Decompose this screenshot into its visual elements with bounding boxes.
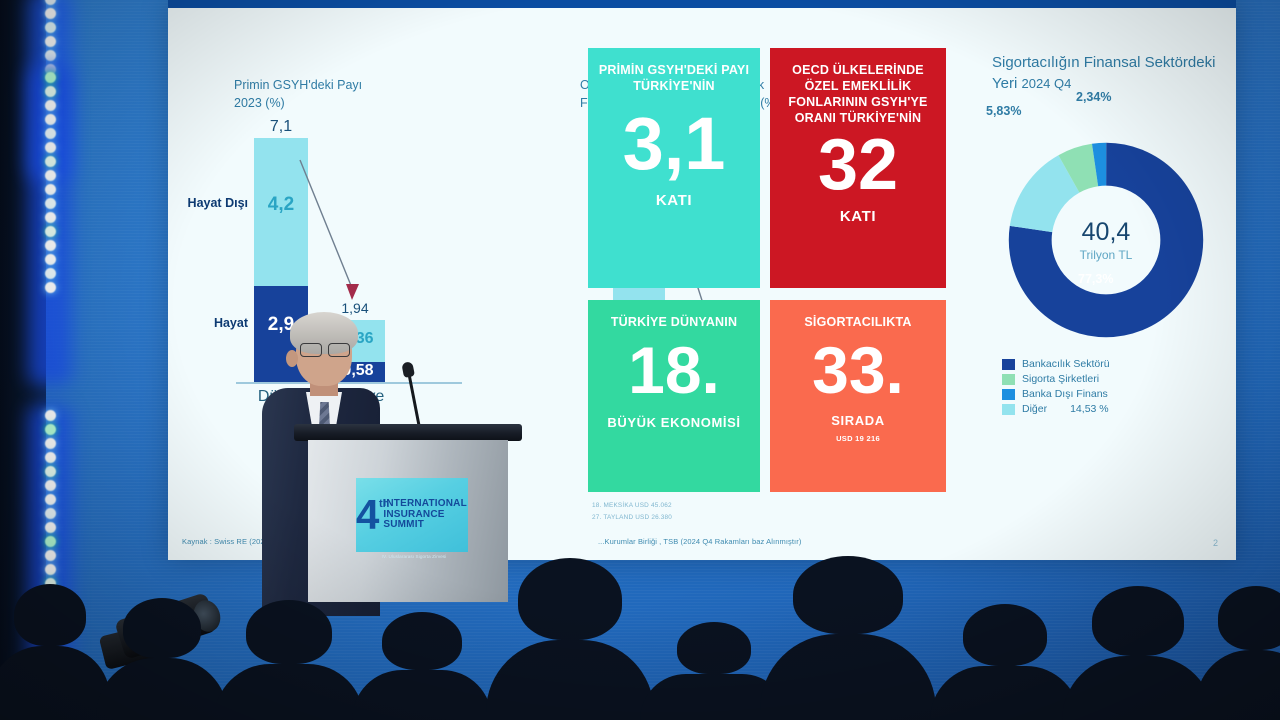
donut-center-unit: Trilyon TL [1080,248,1133,262]
legend-item-sigorta: Sigorta Şirketleri [1002,373,1110,385]
tile-sub-3: BÜYÜK EKONOMİSİ [607,415,740,430]
summit-logo-text: INTERNATIONAL INSURANCE SUMMIT [383,499,468,531]
chart-title-1: Primin GSYH'deki Payı 2023 (%) [234,76,384,112]
stat-tile-economy-rank: TÜRKİYE DÜNYANIN 18. BÜYÜK EKONOMİSİ [588,300,760,492]
audience-head [96,658,228,720]
led-strip-middle [40,72,60,293]
donut-pct-bankacilik: 77,3% [1078,272,1113,286]
summit-logo-line2: INSURANCE SUMMIT [383,510,468,531]
legend-swatch-bankacilik [1002,359,1015,370]
stat-tiles-group: PRİMİN GSYH'DEKİ PAYI TÜRKİYE'NİN 3,1 KA… [588,48,946,493]
stat-tile-premium-multiple: PRİMİN GSYH'DEKİ PAYI TÜRKİYE'NİN 3,1 KA… [588,48,760,288]
speaker-glasses-icon [300,343,350,356]
donut-ring: 40,4 Trilyon TL 77,3% [1006,140,1206,340]
audience-head [214,664,364,720]
donut-pct-sigorta: 5,83% [986,104,1021,118]
chart1-total-label-dunya: 7,1 [246,118,316,136]
footnote-2: 27. TAYLAND USD 26.380 [592,512,672,524]
tile-note-4: USD 19 216 [836,434,880,443]
tile-value-4: 33. [812,340,904,401]
tile-footnotes: 18. MEKSİKA USD 45.062 27. TAYLAND USD 2… [592,500,672,524]
legend-label-bankacilik: Bankacılık Sektörü [1022,358,1110,370]
tile-caption-4: SİGORTACILIKTA [804,314,911,330]
audience-head [1062,656,1214,720]
tile-value-1: 3,1 [623,110,726,178]
audience-head [352,670,492,720]
legend-item-bankacilik: Bankacılık Sektörü [1002,358,1110,370]
stat-tile-pension-multiple: OECD ÜLKELERİNDE ÖZEL EMEKLİLİK FONLARIN… [770,48,946,288]
summit-logo-tagline: IV. Uluslararası Sigorta Zirvesi [360,554,468,559]
summit-logo-ordinal: 4th [356,498,379,532]
chart-financial-sector-donut: Sigortacılığın Finansal Sektördeki Yeri … [968,40,1236,500]
legend-label-diger: Diğer [1022,403,1047,415]
audience-head [930,666,1080,720]
tile-caption-3: TÜRKİYE DÜNYANIN [611,314,737,330]
donut-title-year: 2024 Q4 [1021,76,1071,91]
donut-center-value: 40,4 [1082,218,1131,247]
footnote-1: 18. MEKSİKA USD 45.062 [592,500,672,512]
audience-silhouettes [0,570,1280,720]
audience-head [0,646,110,720]
stat-tile-insurance-rank: SİGORTACILIKTA 33. SIRADA USD 19 216 [770,300,946,492]
chart1-decline-arrow-icon [296,156,376,306]
source-note-right: ...Kurumlar Birliği , TSB (2024 Q4 Rakam… [598,537,801,546]
legend-swatch-bankadisi [1002,389,1015,400]
legend-item-diger: Diğer 14,53 % [1002,403,1110,415]
conference-stage: Sigorta Birliği Primin GSYH'deki Payı 20… [0,0,1280,720]
tile-sub-2: KATI [840,208,876,225]
led-strip-upper [40,0,60,75]
tile-sub-1: KATI [656,192,692,209]
legend-value-diger: 14,53 % [1070,403,1109,415]
podium-top-surface [294,424,522,441]
tile-caption-2: OECD ÜLKELERİNDE ÖZEL EMEKLİLİK FONLARIN… [780,62,936,126]
slide-page-number: 2 [1213,538,1218,548]
summit-ordinal-number: 4 [356,491,379,538]
legend-swatch-sigorta [1002,374,1015,385]
audience-head [1196,650,1280,720]
donut-pct-bankadisi: 2,34% [1076,90,1111,104]
legend-label-bankadisi: Banka Dışı Finans [1022,388,1108,400]
legend-swatch-diger [1002,404,1015,415]
source-note-left: Kaynak : Swiss RE (2024) [182,537,272,546]
audience-head [760,634,936,720]
chart1-row-label-nonlife: Hayat Dışı [168,196,248,210]
chart1-row-label-life: Hayat [168,316,248,330]
donut-title: Sigortacılığın Finansal Sektördeki Yeri … [992,52,1236,95]
speaker-ear [286,350,298,367]
legend-item-bankadisi: Banka Dışı Finans [1002,388,1110,400]
tile-value-3: 18. [628,340,720,401]
legend-label-sigorta: Sigorta Şirketleri [1022,373,1099,385]
donut-legend: Bankacılık Sektörü Sigorta Şirketleri Ba… [1002,358,1110,418]
audience-head [486,640,654,720]
summit-logo: 4th INTERNATIONAL INSURANCE SUMMIT [356,478,468,552]
tile-value-2: 32 [818,132,898,198]
tile-sub-4: SIRADA [831,413,884,428]
summit-ordinal-suffix: th [379,500,389,509]
tile-caption-1: PRİMİN GSYH'DEKİ PAYI TÜRKİYE'NİN [598,62,750,94]
